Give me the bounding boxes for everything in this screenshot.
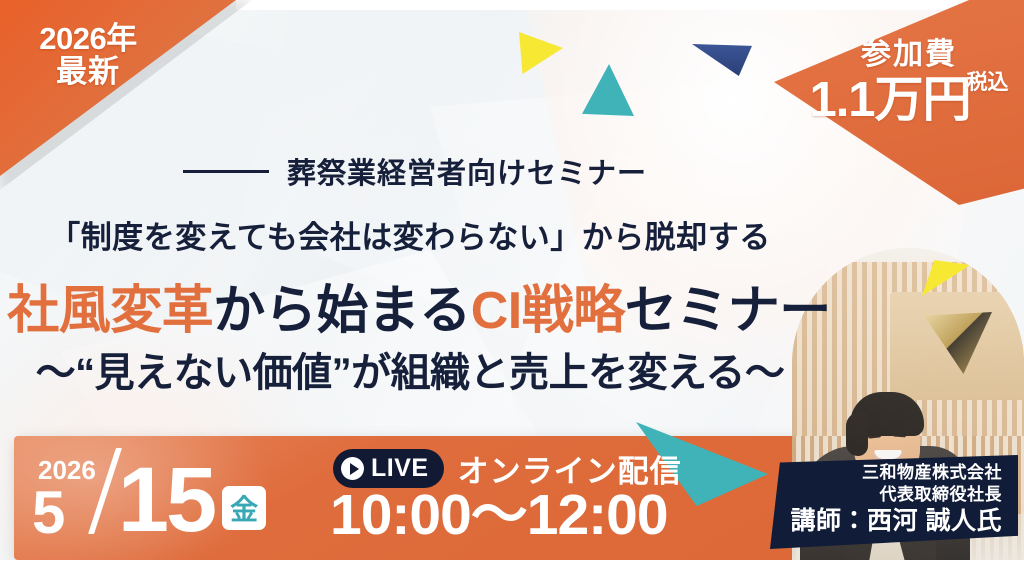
date-month: 5 [32,485,65,540]
speaker-info-inner: 三和物産株式会社 代表取締役社長 講師：西河 誠人氏 [770,455,1018,549]
speaker-role: 代表取締役社長 [880,485,1003,506]
price-label: 参加費 [804,40,1014,70]
subtitle-text: 〜“見えない価値”が組織と売上を変える〜 [0,340,820,398]
title-highlight-1: 社風変革 [7,282,213,340]
lead-text: 「制度を変えても会社は変わらない」から脱却する [0,212,820,257]
date-day-of-week: 金 [222,486,266,530]
live-label: LIVE [371,454,429,483]
date-day: 15 [118,461,214,540]
speaker-company: 三和物産株式会社 [862,463,1002,484]
date-year-month: 2026 5 [32,457,96,540]
price-amount-row: 1.1万円 税込 [804,72,1014,125]
title-plain-1: から始まる [213,282,471,340]
event-time: 10:00〜12:00 [330,487,668,544]
ribbon-latest: 最新 [8,55,168,88]
speaker-info-box: 三和物産株式会社 代表取締役社長 講師：西河 誠人氏 [770,455,1018,549]
speaker-name: 講師：西河 誠人氏 [791,508,1002,536]
price-amount: 1.1万円 [809,76,970,125]
price-tax-note: 税込 [967,72,1009,93]
bottom-margin [0,560,1024,576]
ribbon-text-group: 2026年 最新 [8,22,168,89]
price-text-group: 参加費 1.1万円 税込 [804,40,1014,125]
play-icon [341,457,364,480]
title-highlight-2: CI戦略 [471,282,625,340]
seminar-banner: 2026年 最新 参加費 1.1万円 税込 葬祭業経営者向けセミナー 「制度を変… [0,0,1024,576]
kicker-text: 葬祭業経営者向けセミナー [287,150,647,192]
play-triangle-icon [350,463,359,475]
event-date: 2026 5 15 金 [32,448,266,540]
kicker-rule [183,170,269,173]
main-title: 社風変革から始まるCI戦略セミナー [0,268,838,343]
kicker-row: 葬祭業経営者向けセミナー [0,150,830,192]
title-plain-2: セミナー [625,282,831,340]
ribbon-year: 2026年 [8,22,168,55]
